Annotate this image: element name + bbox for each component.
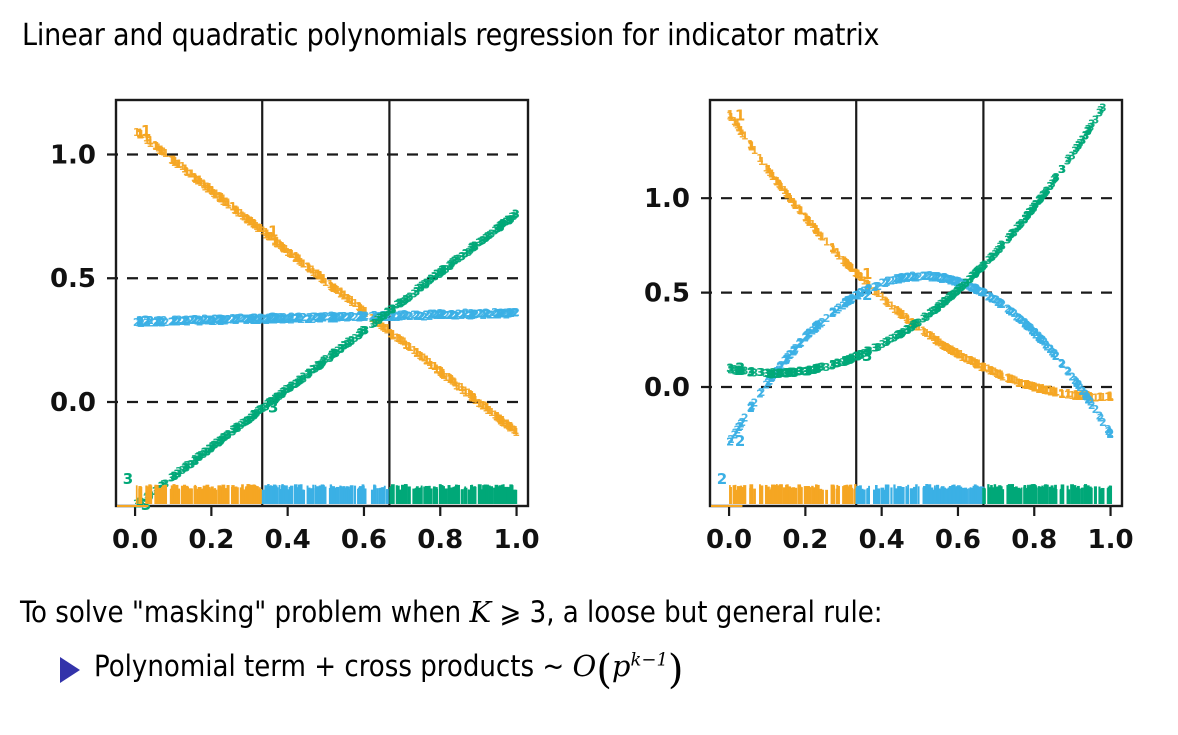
svg-text:3: 3 bbox=[1099, 101, 1107, 114]
bullet-variable: p bbox=[612, 649, 631, 683]
x-tick-label: 1.0 bbox=[494, 525, 540, 555]
series-class-2: 2222222222222222222222222222222222222222… bbox=[133, 306, 520, 330]
x-tick-label: 0.2 bbox=[782, 525, 828, 555]
series-class-1: 1111111111111111111111111111111111111111… bbox=[133, 126, 520, 439]
y-tick-label: 0.0 bbox=[644, 373, 690, 403]
y-tick-label: 0.5 bbox=[644, 279, 690, 309]
series-edge-label-1: 1 bbox=[735, 107, 745, 125]
chart-left-panel: 1.00.50.00.00.20.40.60.81.01111111111111… bbox=[16, 86, 576, 556]
paren-close: ) bbox=[668, 647, 684, 693]
rug-corner-label: 3 bbox=[123, 470, 133, 488]
bullet-big-o: O bbox=[573, 649, 597, 683]
series-edge-label-1: 1 bbox=[862, 265, 872, 283]
svg-text:1: 1 bbox=[512, 426, 520, 439]
bullet-text: Polynomial term + cross products ~ O(pk−… bbox=[94, 647, 684, 693]
body-statement: To solve "masking" problem when K ⩾ 3, a… bbox=[20, 597, 1160, 629]
bullet-item: Polynomial term + cross products ~ O(pk−… bbox=[60, 647, 1160, 693]
body-geq: ⩾ 3, bbox=[491, 595, 563, 629]
series-edge-label-2: 2 bbox=[862, 286, 872, 304]
body-suffix: a loose but general rule: bbox=[563, 595, 883, 629]
x-tick-label: 0.8 bbox=[1011, 525, 1057, 555]
body-prefix: To solve "masking" problem when bbox=[20, 595, 470, 629]
series-edge-label-2: 2 bbox=[735, 432, 745, 450]
paren-open: ( bbox=[596, 647, 612, 693]
svg-text:1: 1 bbox=[1107, 391, 1115, 404]
series-edge-label-1: 1 bbox=[141, 122, 151, 140]
series-class-3: 3333333333333333333333333333333333333333… bbox=[133, 207, 520, 510]
linear-regression-scatter: 1.00.50.00.00.20.40.60.81.01111111111111… bbox=[16, 86, 576, 556]
x-tick-label: 0.4 bbox=[859, 525, 905, 555]
series-edge-label-3: 3 bbox=[735, 359, 745, 377]
x-tick-label: 0.6 bbox=[341, 525, 387, 555]
series-edge-label-3: 3 bbox=[862, 347, 872, 365]
y-tick-label: 1.0 bbox=[644, 184, 690, 214]
svg-text:3: 3 bbox=[512, 208, 520, 221]
series-edge-label-1: 1 bbox=[268, 223, 278, 241]
triangle-right-icon bbox=[60, 657, 80, 683]
x-tick-label: 1.0 bbox=[1088, 525, 1134, 555]
bullet-prefix: Polynomial term + cross products ~ bbox=[94, 649, 573, 683]
series-class-2: 2222222222222222222222222222222222222222… bbox=[726, 269, 1114, 449]
y-tick-label: 0.5 bbox=[50, 264, 96, 294]
figure-area: 1.00.50.00.00.20.40.60.81.01111111111111… bbox=[0, 86, 1178, 556]
bullet-exponent: k−1 bbox=[631, 649, 668, 670]
x-tick-label: 0.6 bbox=[935, 525, 981, 555]
series-edge-label-2: 2 bbox=[141, 313, 151, 331]
y-tick-label: 0.0 bbox=[50, 388, 96, 418]
svg-text:2: 2 bbox=[512, 306, 520, 319]
chart-right-panel: 1.00.50.00.00.20.40.60.81.01111111111111… bbox=[610, 86, 1170, 556]
rug-corner-label: 2 bbox=[717, 470, 727, 488]
page-title: Linear and quadratic polynomials regress… bbox=[22, 18, 879, 53]
series-edge-label-3: 3 bbox=[268, 398, 278, 416]
x-tick-label: 0.4 bbox=[265, 525, 311, 555]
plot-frame bbox=[710, 100, 1122, 506]
series-edge-label-2: 2 bbox=[268, 310, 278, 328]
quadratic-regression-scatter: 1.00.50.00.00.20.40.60.81.01111111111111… bbox=[610, 86, 1170, 556]
svg-text:2: 2 bbox=[1107, 427, 1115, 440]
x-tick-label: 0.8 bbox=[417, 525, 463, 555]
y-tick-label: 1.0 bbox=[50, 140, 96, 170]
body-math-k: K bbox=[470, 595, 492, 629]
x-tick-label: 0.0 bbox=[112, 525, 158, 555]
rug-plot bbox=[137, 484, 516, 504]
bottom-text-block: To solve "masking" problem when K ⩾ 3, a… bbox=[20, 597, 1160, 693]
rug-plot bbox=[730, 484, 1111, 504]
x-tick-label: 0.0 bbox=[706, 525, 752, 555]
x-tick-label: 0.2 bbox=[188, 525, 234, 555]
